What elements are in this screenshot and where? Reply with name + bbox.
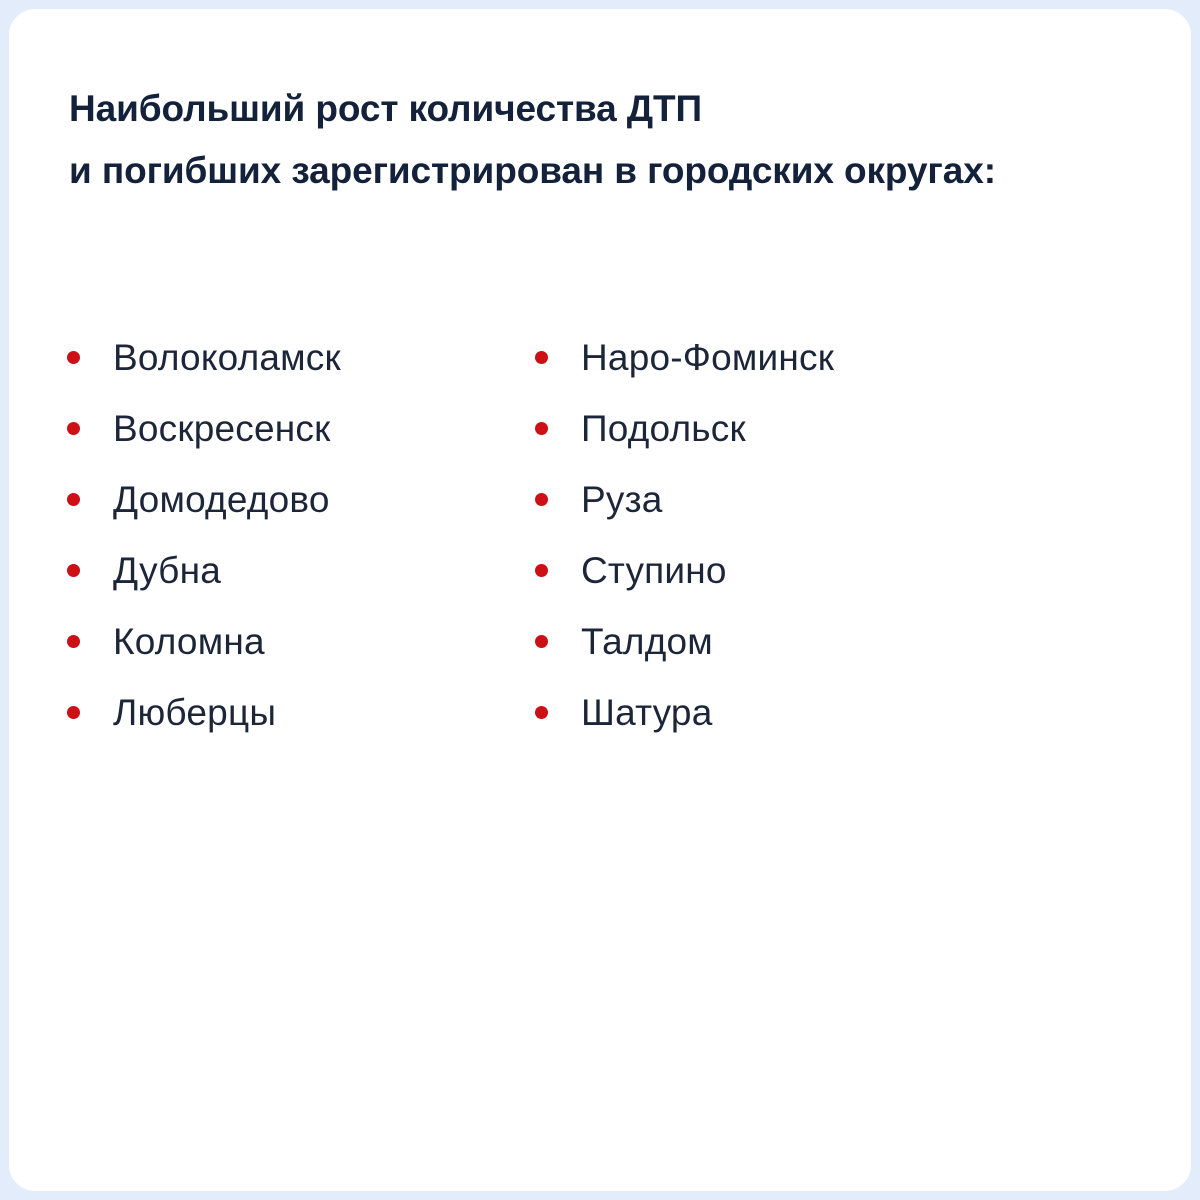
district-name: Шатура: [581, 694, 712, 731]
bullet-icon: [67, 564, 80, 577]
list-item[interactable]: Домодедово: [67, 464, 499, 535]
district-name: Домодедово: [113, 481, 330, 518]
bullet-icon: [535, 706, 548, 719]
districts-column-left: Волоколамск Воскресенск Домодедово Дубна…: [9, 322, 499, 748]
list-item[interactable]: Дубна: [67, 535, 499, 606]
district-name: Подольск: [581, 410, 746, 447]
district-name: Талдом: [581, 623, 713, 660]
bullet-icon: [535, 422, 548, 435]
content-card: Наибольший рост количества ДТП и погибши…: [9, 9, 1191, 1191]
bullet-icon: [535, 351, 548, 364]
page-title: Наибольший рост количества ДТП и погибши…: [69, 78, 1159, 202]
list-item[interactable]: Коломна: [67, 606, 499, 677]
slide-root: Наибольший рост количества ДТП и погибши…: [0, 0, 1200, 1200]
districts-list: Волоколамск Воскресенск Домодедово Дубна…: [9, 322, 1191, 748]
district-name: Воскресенск: [113, 410, 331, 447]
district-name: Руза: [581, 481, 663, 518]
list-item[interactable]: Воскресенск: [67, 393, 499, 464]
bullet-icon: [535, 493, 548, 506]
district-name: Люберцы: [113, 694, 276, 731]
bullet-icon: [535, 635, 548, 648]
bullet-icon: [67, 635, 80, 648]
bullet-icon: [67, 706, 80, 719]
bullet-icon: [67, 493, 80, 506]
list-item[interactable]: Руза: [535, 464, 1099, 535]
list-item[interactable]: Люберцы: [67, 677, 499, 748]
list-item[interactable]: Подольск: [535, 393, 1099, 464]
district-name: Ступино: [581, 552, 727, 589]
bullet-icon: [535, 564, 548, 577]
list-item[interactable]: Ступино: [535, 535, 1099, 606]
list-item[interactable]: Талдом: [535, 606, 1099, 677]
district-name: Коломна: [113, 623, 265, 660]
bullet-icon: [67, 422, 80, 435]
districts-column-right: Наро-Фоминск Подольск Руза Ступино Талдо…: [499, 322, 1099, 748]
district-name: Дубна: [113, 552, 221, 589]
bullet-icon: [67, 351, 80, 364]
district-name: Волоколамск: [113, 339, 341, 376]
list-item[interactable]: Наро-Фоминск: [535, 322, 1099, 393]
list-item[interactable]: Шатура: [535, 677, 1099, 748]
list-item[interactable]: Волоколамск: [67, 322, 499, 393]
district-name: Наро-Фоминск: [581, 339, 834, 376]
